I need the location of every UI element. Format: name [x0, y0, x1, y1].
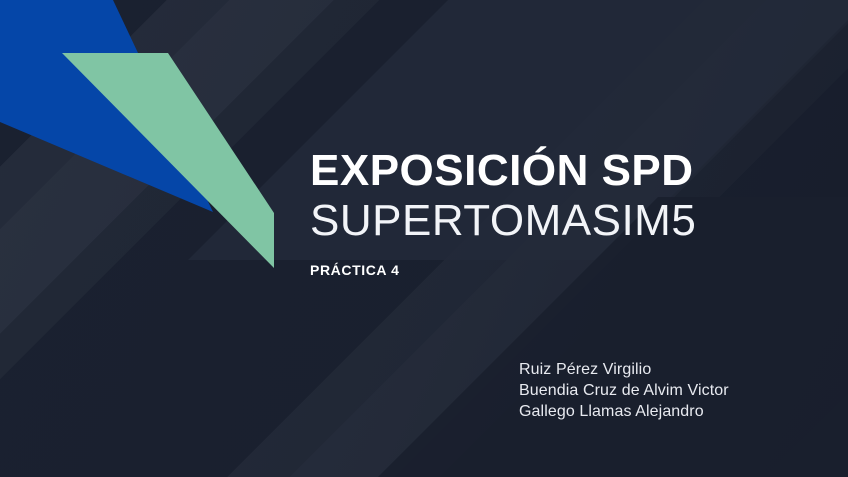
author-name: Buendia Cruz de Alvim Victor — [519, 381, 729, 402]
author-list: Ruiz Pérez Virgilio Buendia Cruz de Alvi… — [519, 360, 729, 422]
page-title: EXPOSICIÓN SPD — [310, 148, 810, 194]
decorative-shapes-group — [0, 0, 300, 290]
title-block: EXPOSICIÓN SPD SUPERTOMASIM5 PRÁCTICA 4 — [310, 148, 810, 278]
author-name: Gallego Llamas Alejandro — [519, 402, 729, 423]
decorative-shapes-svg — [0, 0, 300, 290]
practice-label: PRÁCTICA 4 — [310, 262, 810, 278]
page-subtitle: SUPERTOMASIM5 — [310, 196, 810, 245]
author-name: Ruiz Pérez Virgilio — [519, 360, 729, 381]
presentation-title-slide: EXPOSICIÓN SPD SUPERTOMASIM5 PRÁCTICA 4 … — [0, 0, 848, 477]
